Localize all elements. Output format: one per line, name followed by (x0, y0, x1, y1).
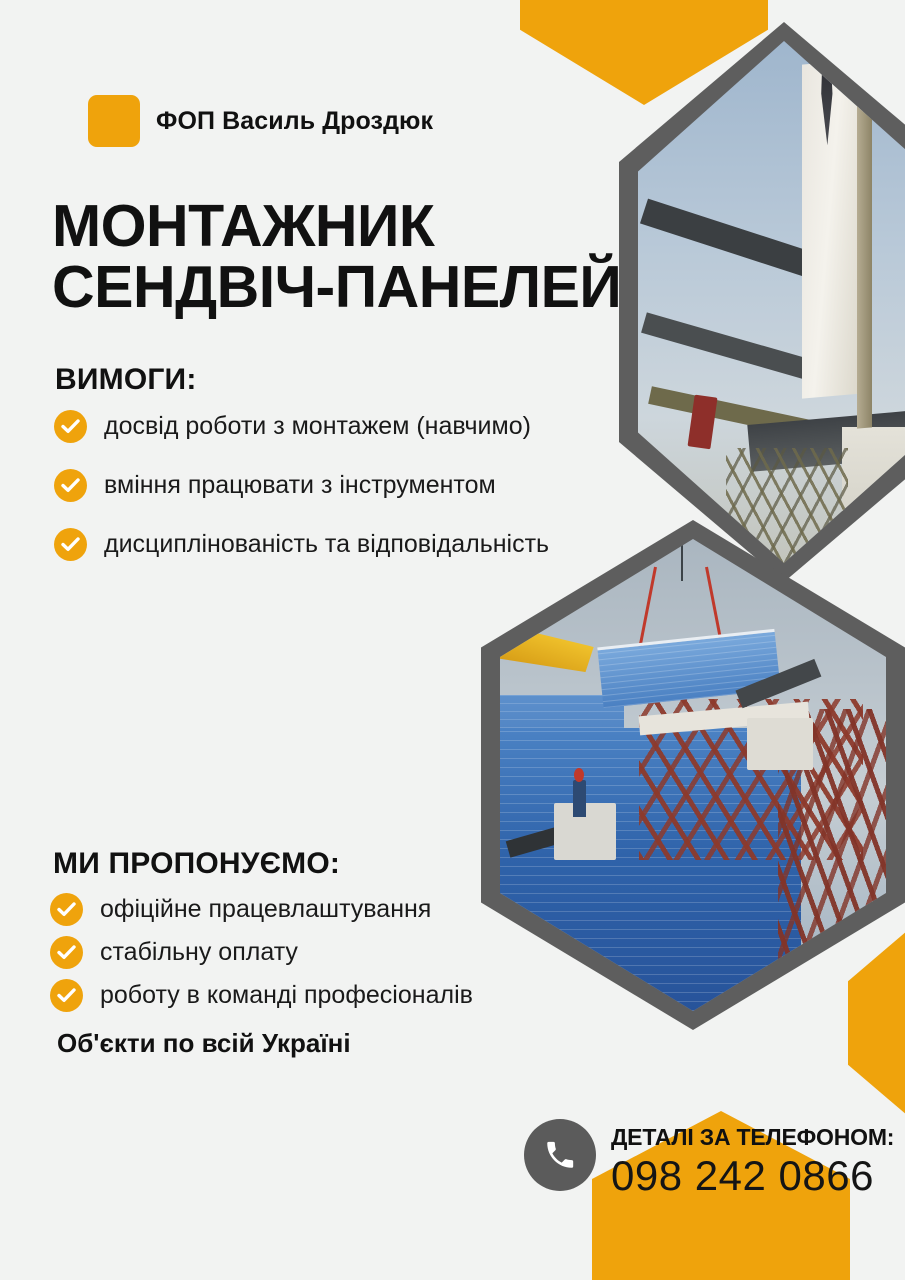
check-icon (50, 979, 83, 1012)
check-icon (50, 936, 83, 969)
requirements-list: досвід роботи з монтажем (навчимо) вмінн… (54, 410, 549, 587)
check-icon (54, 528, 87, 561)
brand-header: ФОП Василь Дроздюк (88, 95, 433, 147)
offers-list: офіційне працевлаштування стабільну опла… (50, 893, 473, 1022)
list-item-label: досвід роботи з монтажем (навчимо) (104, 412, 531, 441)
list-item-label: дисциплінованість та відповідальність (104, 530, 549, 559)
brand-name: ФОП Василь Дроздюк (156, 107, 433, 136)
list-item-label: офіційне працевлаштування (100, 895, 431, 924)
check-icon (54, 410, 87, 443)
list-item: офіційне працевлаштування (50, 893, 473, 926)
list-item-label: роботу в команді професіоналів (100, 981, 473, 1010)
list-item: стабільну оплату (50, 936, 473, 969)
contact-phone-number[interactable]: 098 242 0866 (611, 1152, 874, 1200)
list-item: роботу в команді професіоналів (50, 979, 473, 1012)
hexagon-photo-bottom (481, 520, 905, 1030)
offers-title: МИ ПРОПОНУЄМО: (53, 847, 340, 881)
requirements-title: ВИМОГИ: (55, 363, 197, 397)
page-title: МОНТАЖНИК СЕНДВІЧ-ПАНЕЛЕЙ (52, 196, 672, 319)
phone-icon[interactable] (524, 1119, 596, 1191)
contact-label: ДЕТАЛІ ЗА ТЕЛЕФОНОМ: (611, 1124, 894, 1151)
coverage-note: Об'єкти по всій Україні (57, 1028, 351, 1059)
list-item: досвід роботи з монтажем (навчимо) (54, 410, 549, 443)
headline-line-1: МОНТАЖНИК (52, 193, 434, 259)
headline-line-2: СЕНДВІЧ-ПАНЕЛЕЙ (52, 257, 672, 318)
list-item-label: вміння працювати з інструментом (104, 471, 496, 500)
check-icon (54, 469, 87, 502)
orange-square-logo-icon (88, 95, 140, 147)
list-item: дисциплінованість та відповідальність (54, 528, 549, 561)
poster-root: ФОП Василь Дроздюк МОНТАЖНИК СЕНДВІЧ-ПАН… (0, 0, 905, 1280)
list-item: вміння працювати з інструментом (54, 469, 549, 502)
list-item-label: стабільну оплату (100, 938, 298, 967)
check-icon (50, 893, 83, 926)
